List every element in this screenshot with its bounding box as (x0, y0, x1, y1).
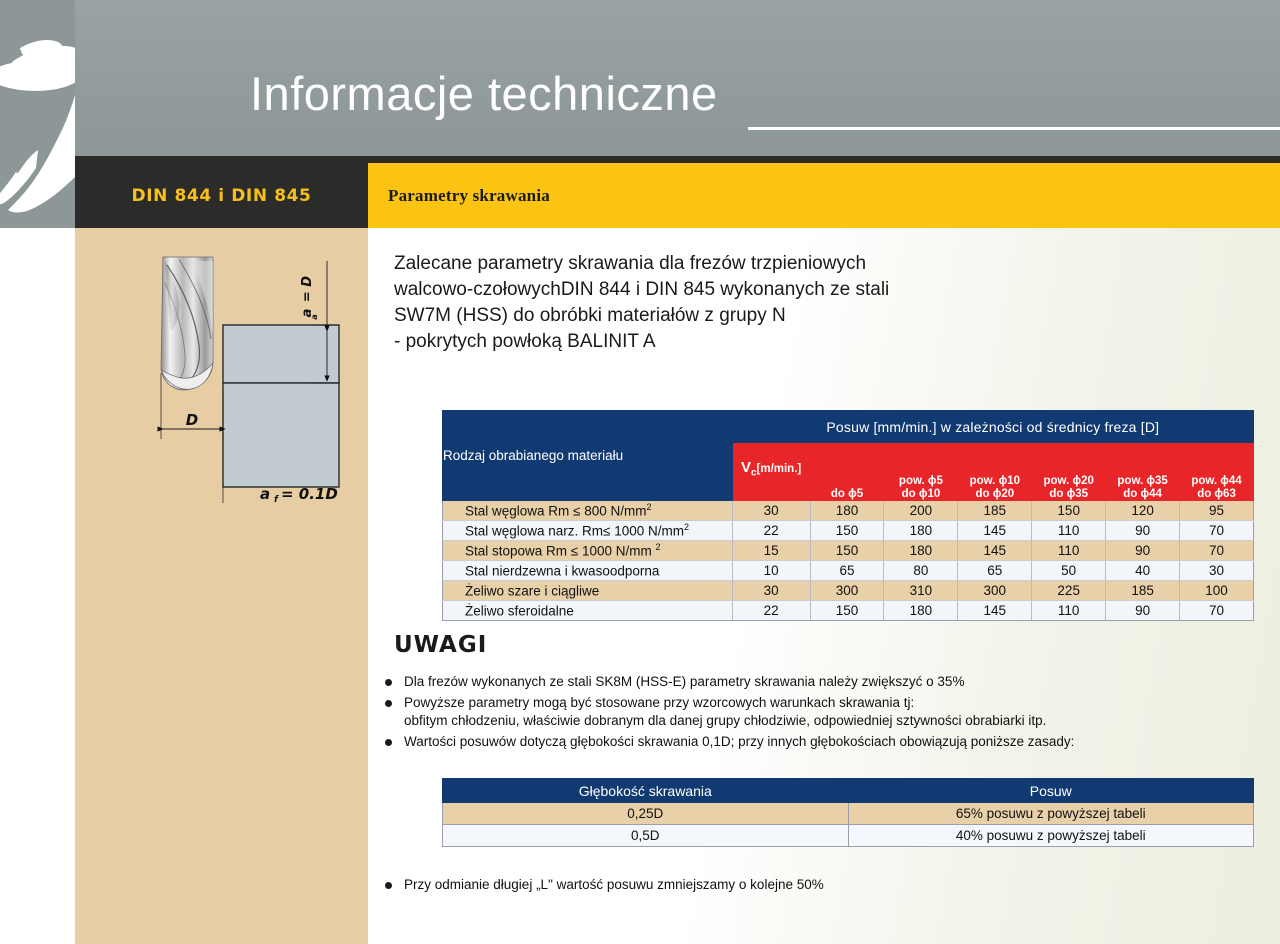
col4-line2: do ϕ44 (1106, 488, 1179, 501)
notes-heading: UWAGI (394, 632, 487, 658)
table-row: Stal stopowa Rm ≤ 1000 N/mm 2 15 150 180… (443, 541, 1254, 561)
header-diameter-col-2: pow. ϕ10 do ϕ20 (958, 443, 1032, 501)
cell-feed-3: 110 (1032, 521, 1106, 541)
col4-line1: pow. ϕ35 (1106, 475, 1179, 488)
hummingbird-logo-icon (0, 18, 75, 218)
cell-material: Stal węglowa Rm ≤ 800 N/mm2 (443, 501, 733, 521)
cell-feed-3: 225 (1032, 581, 1106, 601)
cell-feed-0: 150 (810, 541, 884, 561)
svg-text:= 0.1D: = 0.1D (281, 485, 338, 503)
material-sup: 2 (655, 542, 660, 552)
cutting-parameters-table: Rodzaj obrabianego materiału Posuw [mm/m… (442, 410, 1254, 621)
header-cutting-speed: Vc[m/min.] (732, 443, 810, 501)
col2-line2: do ϕ20 (958, 488, 1031, 501)
table-row: Stal nierdzewna i kwasoodporna 10 65 80 … (443, 561, 1254, 581)
cell-feed-4: 90 (1106, 521, 1180, 541)
col3-line1: pow. ϕ20 (1032, 475, 1105, 488)
page-header: Informacje techniczne (0, 0, 1280, 156)
note-item: Wartości posuwów dotyczą głębokości skra… (376, 733, 1266, 751)
header-diameter-col-5: pow. ϕ44 do ϕ63 (1180, 443, 1254, 501)
material-sup: 2 (646, 502, 651, 512)
cell-vc: 30 (732, 581, 810, 601)
cell-feed-4: 90 (1106, 541, 1180, 561)
cell-vc: 15 (732, 541, 810, 561)
cell-material: Żeliwo sferoidalne (443, 601, 733, 621)
logo-panel (0, 0, 75, 228)
intro-line-1: Zalecane parametry skrawania dla frezów … (394, 251, 1014, 277)
col0-line1: do ϕ5 (811, 488, 884, 501)
note-text: Powyższe parametry mogą być stosowane pr… (404, 695, 914, 710)
cell-feed-4: 120 (1106, 501, 1180, 521)
col1-line1: pow. ϕ5 (884, 475, 957, 488)
page-title: Informacje techniczne (250, 70, 718, 117)
col5-line2: do ϕ63 (1180, 488, 1253, 501)
cell-feed-5: 95 (1180, 501, 1254, 521)
note-item: Dla frezów wykonanych ze stali SK8M (HSS… (376, 673, 1266, 691)
cell-feed-2: 185 (958, 501, 1032, 521)
table-row: Stal węglowa narz. Rm≤ 1000 N/mm2 22 150… (443, 521, 1254, 541)
cell-feed-3: 110 (1032, 541, 1106, 561)
depth-table-row: 0,25D 65% posuwu z powyższej tabeli (443, 803, 1254, 825)
section-title: Parametry skrawania (388, 186, 550, 206)
cell-feed-5: 70 (1180, 521, 1254, 541)
cell-feed-2: 145 (958, 601, 1032, 621)
dim-label-diameter: D (186, 411, 198, 429)
cell-feed-3: 110 (1032, 601, 1106, 621)
header-diameter-col-1: pow. ϕ5 do ϕ10 (884, 443, 958, 501)
din-standard-band: DIN 844 i DIN 845 (75, 163, 368, 228)
material-text: Stal stopowa Rm ≤ 1000 N/mm (465, 544, 655, 559)
cell-feed-1: 80 (884, 561, 958, 581)
cell-feed: 40% posuwu z powyższej tabeli (848, 825, 1254, 847)
cell-feed-4: 90 (1106, 601, 1180, 621)
notes-list: Dla frezów wykonanych ze stali SK8M (HSS… (376, 673, 1266, 754)
cell-material: Stal stopowa Rm ≤ 1000 N/mm 2 (443, 541, 733, 561)
end-mill-drawing: a a = D D a f = 0.1D (135, 243, 365, 503)
table-row: Żeliwo szare i ciągliwe 30 300 310 300 2… (443, 581, 1254, 601)
header-diameter-col-4: pow. ϕ35 do ϕ44 (1106, 443, 1180, 501)
header-dark-strip (0, 156, 1280, 163)
header-feed-span: Posuw [mm/min.] w zależności od średnicy… (732, 411, 1253, 443)
cell-feed-0: 150 (810, 601, 884, 621)
cell-feed-2: 300 (958, 581, 1032, 601)
table-row: Żeliwo sferoidalne 22 150 180 145 110 90… (443, 601, 1254, 621)
cell-vc: 22 (732, 521, 810, 541)
cell-feed-5: 100 (1180, 581, 1254, 601)
depth-feed-table: Głębokość skrawania Posuw 0,25D 65% posu… (442, 778, 1254, 847)
illustration-panel: a a = D D a f = 0.1D (75, 228, 368, 944)
svg-text:= D: = D (300, 276, 315, 302)
depth-header-depth: Głębokość skrawania (443, 779, 849, 803)
material-text: Stal węglowa narz. Rm≤ 1000 N/mm (465, 524, 684, 539)
bullet-icon (385, 679, 392, 686)
vc-unit: [m/min.] (757, 463, 802, 475)
note-item-final: Przy odmianie długiej „L" wartość posuwu… (376, 876, 1076, 894)
header-diameter-col-3: pow. ϕ20 do ϕ35 (1032, 443, 1106, 501)
cell-depth: 0,25D (443, 803, 849, 825)
main-content: Zalecane parametry skrawania dla frezów … (368, 228, 1280, 944)
cell-vc: 22 (732, 601, 810, 621)
table-row: Stal węglowa Rm ≤ 800 N/mm2 30 180 200 1… (443, 501, 1254, 521)
material-text: Stal węglowa Rm ≤ 800 N/mm (465, 504, 646, 519)
material-text: Żeliwo sferoidalne (465, 604, 574, 619)
col3-line2: do ϕ35 (1032, 488, 1105, 501)
cell-feed-0: 150 (810, 521, 884, 541)
header-material: Rodzaj obrabianego materiału (443, 411, 733, 501)
intro-paragraph: Zalecane parametry skrawania dla frezów … (394, 251, 1014, 355)
note-text: Wartości posuwów dotyczą głębokości skra… (404, 734, 1074, 749)
note-item: Powyższe parametry mogą być stosowane pr… (376, 694, 1266, 730)
cell-depth: 0,5D (443, 825, 849, 847)
cell-feed-3: 50 (1032, 561, 1106, 581)
cell-feed-3: 150 (1032, 501, 1106, 521)
cell-material: Stal węglowa narz. Rm≤ 1000 N/mm2 (443, 521, 733, 541)
svg-text:f: f (274, 495, 279, 503)
note-text: Dla frezów wykonanych ze stali SK8M (HSS… (404, 674, 964, 689)
cell-feed-5: 70 (1180, 541, 1254, 561)
svg-text:a: a (310, 314, 319, 319)
depth-header-feed: Posuw (848, 779, 1254, 803)
bullet-icon (385, 700, 392, 707)
cell-feed-4: 40 (1106, 561, 1180, 581)
cell-feed-1: 180 (884, 521, 958, 541)
cell-feed-5: 70 (1180, 601, 1254, 621)
cell-material: Stal nierdzewna i kwasoodporna (443, 561, 733, 581)
bullet-icon (385, 739, 392, 746)
material-text: Stal nierdzewna i kwasoodporna (465, 564, 659, 579)
cell-feed-0: 65 (810, 561, 884, 581)
cell-feed-1: 310 (884, 581, 958, 601)
cell-feed-1: 180 (884, 541, 958, 561)
depth-table-row: 0,5D 40% posuwu z powyższej tabeli (443, 825, 1254, 847)
note-text: Przy odmianie długiej „L" wartość posuwu… (404, 877, 824, 892)
col5-line1: pow. ϕ44 (1180, 475, 1253, 488)
material-text: Żeliwo szare i ciągliwe (465, 584, 599, 599)
cell-feed-2: 145 (958, 521, 1032, 541)
cell-feed: 65% posuwu z powyższej tabeli (848, 803, 1254, 825)
cell-feed-2: 65 (958, 561, 1032, 581)
cell-feed-0: 300 (810, 581, 884, 601)
col1-line2: do ϕ10 (884, 488, 957, 501)
cell-material: Żeliwo szare i ciągliwe (443, 581, 733, 601)
section-band: Parametry skrawania (368, 163, 1280, 228)
cell-vc: 10 (732, 561, 810, 581)
intro-line-3: SW7M (HSS) do obróbki materiałów z grupy… (394, 303, 1014, 329)
title-underline (748, 127, 1280, 130)
cell-feed-0: 180 (810, 501, 884, 521)
din-standard-label: DIN 844 i DIN 845 (75, 186, 368, 206)
dim-label-radial: a (260, 485, 270, 503)
intro-line-2: walcowo-czołowychDIN 844 i DIN 845 wykon… (394, 277, 1014, 303)
cell-feed-2: 145 (958, 541, 1032, 561)
cell-vc: 30 (732, 501, 810, 521)
depth-header-row: Głębokość skrawania Posuw (443, 779, 1254, 803)
note-subtext: obfitym chłodzeniu, właściwie dobranym d… (404, 712, 1266, 730)
table-body: Stal węglowa Rm ≤ 800 N/mm2 30 180 200 1… (443, 501, 1254, 621)
col2-line1: pow. ϕ10 (958, 475, 1031, 488)
cell-feed-5: 30 (1180, 561, 1254, 581)
table-header-row-1: Rodzaj obrabianego materiału Posuw [mm/m… (443, 411, 1254, 443)
cell-feed-4: 185 (1106, 581, 1180, 601)
header-diameter-col-0: do ϕ5 (810, 443, 884, 501)
vc-symbol: V (741, 459, 751, 476)
intro-line-4: - pokrytych powłoką BALINIT A (394, 329, 1014, 355)
page-root: Informacje techniczne DIN 844 i DIN 84 (0, 0, 1280, 944)
material-sup: 2 (684, 522, 689, 532)
bullet-icon (385, 882, 392, 889)
cell-feed-1: 200 (884, 501, 958, 521)
cell-feed-1: 180 (884, 601, 958, 621)
